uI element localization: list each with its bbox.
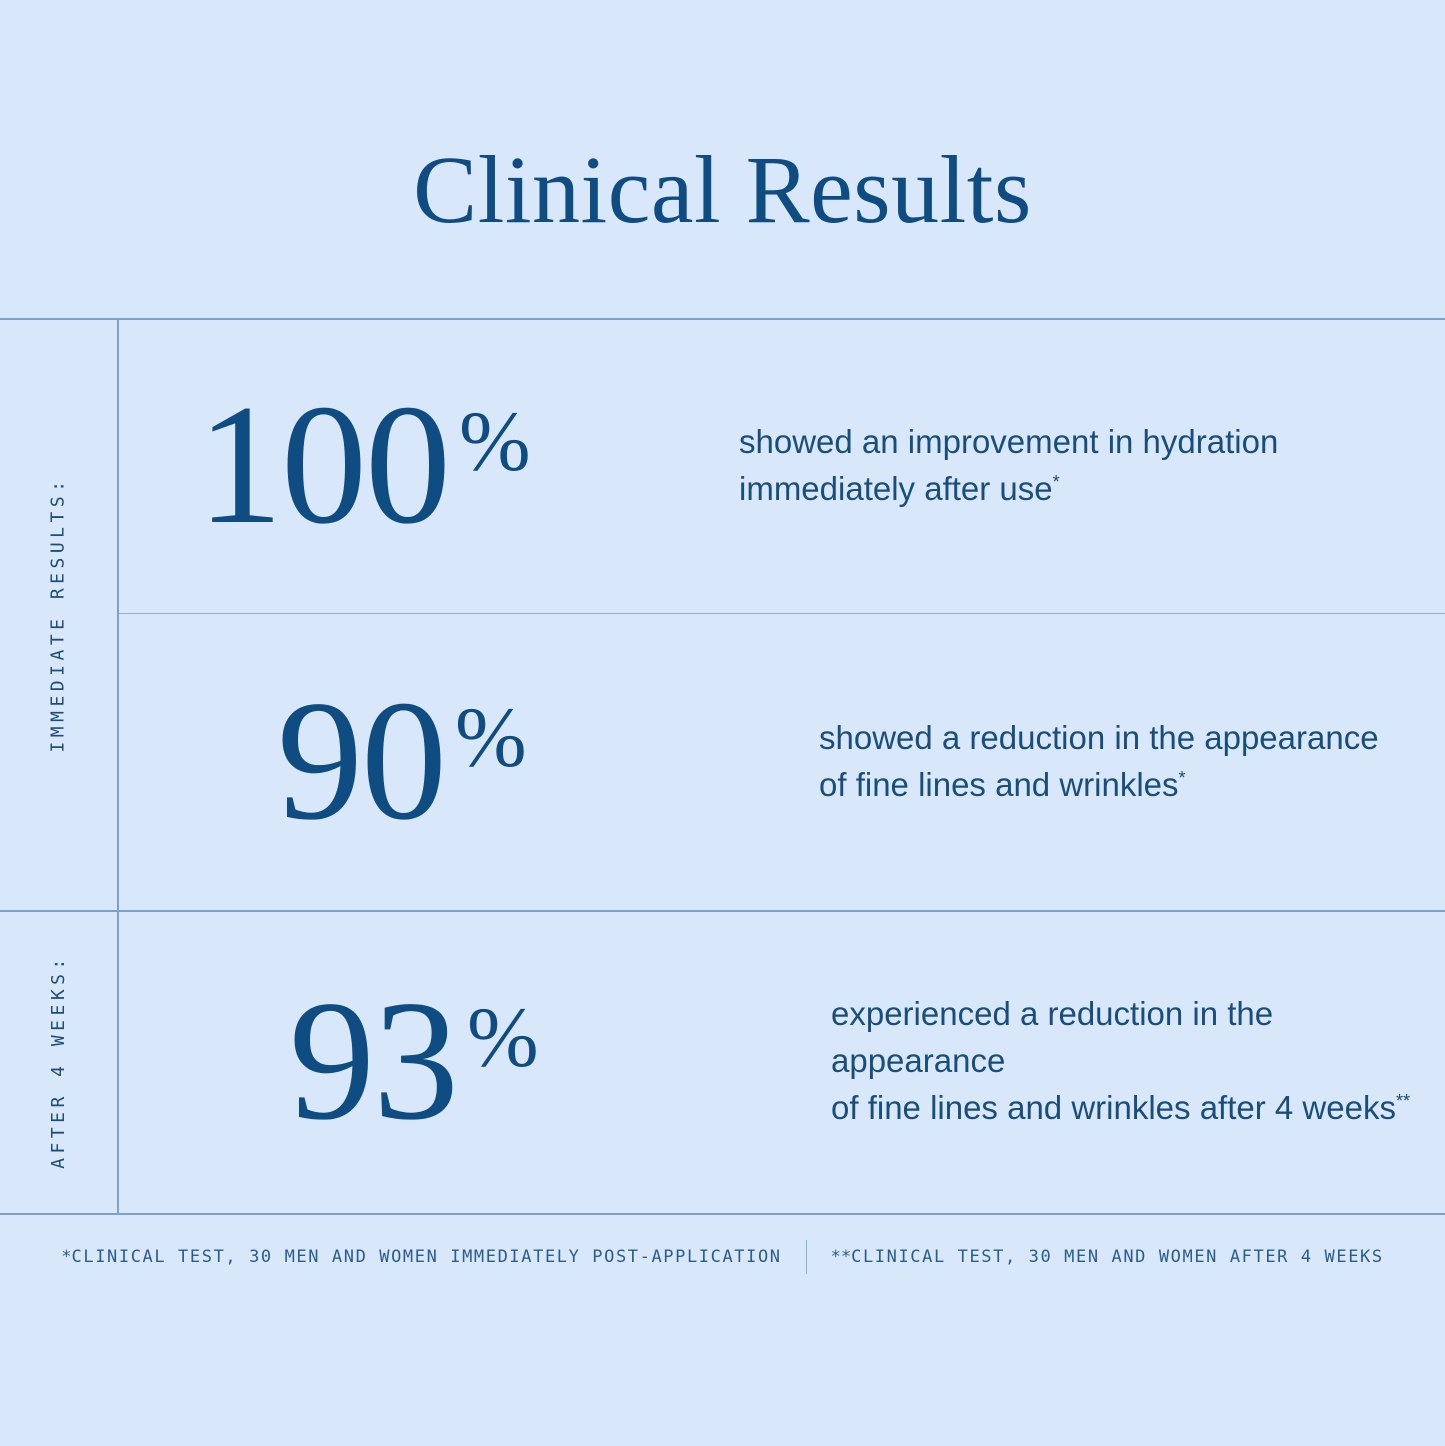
stat-description-fine-lines: showed a reduction in the appearance of … xyxy=(757,715,1445,809)
section-label-immediate-results: IMMEDIATE RESULTS: xyxy=(0,318,117,910)
clinical-results-infographic: Clinical Results IMMEDIATE RESULTS: AFTE… xyxy=(0,0,1445,1446)
percent-symbol: % xyxy=(459,398,531,484)
section-label-immediate-results-text: IMMEDIATE RESULTS: xyxy=(48,476,69,752)
percent-symbol: % xyxy=(455,694,527,780)
stat-description-hydration: showed an improvement in hydration immed… xyxy=(677,419,1445,513)
footnote-marker: * xyxy=(1179,768,1186,788)
stat-description-line1: experienced a reduction in the appearanc… xyxy=(831,995,1273,1079)
stat-row-fine-lines: 90 % showed a reduction in the appearanc… xyxy=(117,613,1445,910)
stat-row-hydration: 100 % showed an improvement in hydration… xyxy=(117,318,1445,613)
stat-description-line1: showed an improvement in hydration xyxy=(739,423,1278,460)
stat-number: 93 xyxy=(289,986,457,1137)
footnote-four-weeks-text: CLINICAL TEST, 30 MEN AND WOMEN AFTER 4 … xyxy=(851,1247,1384,1267)
footnote-immediate: *CLINICAL TEST, 30 MEN AND WOMEN IMMEDIA… xyxy=(61,1247,781,1267)
stat-value-100: 100 % xyxy=(117,390,677,541)
page-title: Clinical Results xyxy=(0,142,1445,238)
stat-value-93: 93 % xyxy=(117,986,769,1137)
footnotes: *CLINICAL TEST, 30 MEN AND WOMEN IMMEDIA… xyxy=(0,1240,1445,1274)
stat-row-four-weeks: 93 % experienced a reduction in the appe… xyxy=(117,910,1445,1213)
stat-description-line2: of fine lines and wrinkles after 4 weeks xyxy=(831,1089,1396,1126)
stat-number: 90 xyxy=(277,686,445,837)
stat-value-90: 90 % xyxy=(117,686,757,837)
stat-number: 100 xyxy=(197,390,449,541)
footnote-marker: * xyxy=(1053,472,1060,492)
divider-bottom xyxy=(0,1213,1445,1215)
stat-description-line2: of fine lines and wrinkles xyxy=(819,766,1179,803)
footnote-immediate-text: CLINICAL TEST, 30 MEN AND WOMEN IMMEDIAT… xyxy=(72,1247,782,1267)
footnote-marker: ** xyxy=(1396,1091,1410,1111)
footnote-separator xyxy=(806,1240,807,1274)
footnote-marker-single: * xyxy=(61,1247,71,1267)
stat-description-four-weeks: experienced a reduction in the appearanc… xyxy=(769,991,1445,1132)
stat-description-line2: immediately after use xyxy=(739,470,1053,507)
section-label-after-4-weeks-text: AFTER 4 WEEKS: xyxy=(48,954,69,1169)
percent-symbol: % xyxy=(467,994,539,1080)
footnote-four-weeks: **CLINICAL TEST, 30 MEN AND WOMEN AFTER … xyxy=(831,1247,1384,1267)
section-label-after-4-weeks: AFTER 4 WEEKS: xyxy=(0,910,117,1213)
stat-description-line1: showed a reduction in the appearance xyxy=(819,719,1379,756)
footnote-marker-double: ** xyxy=(831,1247,851,1267)
